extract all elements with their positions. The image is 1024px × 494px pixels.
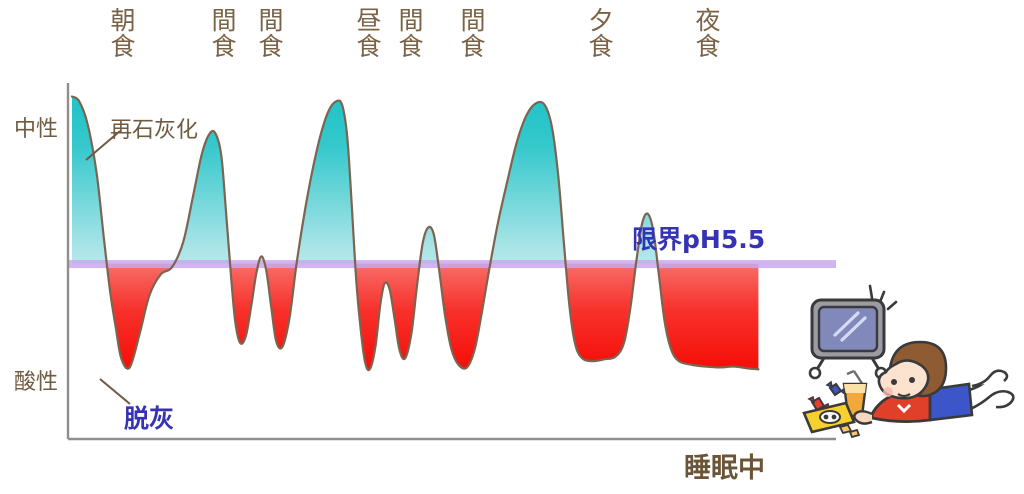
annotation-remineralization: 再石灰化	[110, 112, 198, 144]
annotation-demineralization: 脱灰	[124, 399, 174, 435]
critical-ph-line	[68, 260, 836, 268]
y-axis-label-neutral: 中性	[14, 111, 58, 143]
annotation-critical-ph: 限界pH5.5	[632, 220, 765, 256]
stephan-curve-figure: 朝 食 間 食 間 食 昼 食 間 食 間 食 夕 食 夜 食	[0, 0, 1024, 494]
illustration-child-watching-tv	[794, 272, 1024, 442]
label-sleeping: 睡眠中	[684, 446, 765, 485]
tv-icon	[810, 300, 886, 378]
y-axis-label-acidic: 酸性	[14, 364, 58, 396]
